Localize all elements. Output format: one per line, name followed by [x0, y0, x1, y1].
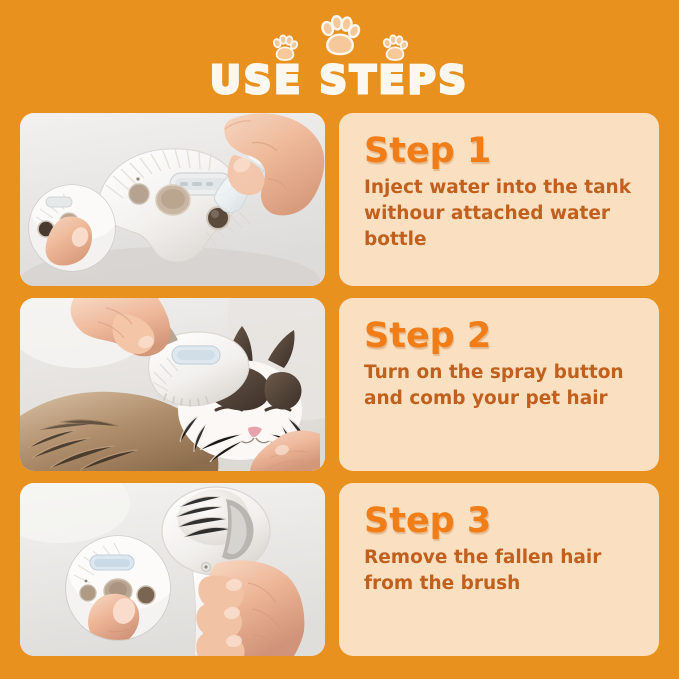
- step-1-photo: [20, 113, 325, 286]
- steps-list: Step 1 Inject water into the tank withou…: [20, 113, 659, 656]
- poster-header: USE STEPS: [0, 0, 679, 110]
- grooming-brush-with-bottle-image: [20, 113, 325, 286]
- brush-with-fur-image: [20, 483, 325, 656]
- step-description: Inject water into the tank withour attac…: [364, 175, 634, 253]
- list-item: Step 3 Remove the fallen hair from the b…: [20, 483, 659, 656]
- cat-grooming-image: [20, 298, 325, 471]
- use-steps-poster: USE STEPS: [0, 0, 679, 679]
- list-item: Step 1 Inject water into the tank withou…: [20, 113, 659, 286]
- step-3-photo: [20, 483, 325, 656]
- step-3-panel: Step 3 Remove the fallen hair from the b…: [339, 483, 659, 656]
- step-heading: Step 3: [364, 501, 639, 541]
- step-description: Remove the fallen hair from the brush: [364, 545, 634, 597]
- step-heading: Step 1: [364, 131, 639, 171]
- step-2-photo: [20, 298, 325, 471]
- step-1-panel: Step 1 Inject water into the tank withou…: [339, 113, 659, 286]
- step-description: Turn on the spray button and comb your p…: [364, 360, 634, 412]
- step-heading: Step 2: [364, 316, 639, 356]
- list-item: Step 2 Turn on the spray button and comb…: [20, 298, 659, 471]
- step-2-panel: Step 2 Turn on the spray button and comb…: [339, 298, 659, 471]
- page-title: USE STEPS: [0, 58, 679, 102]
- paw-print-icon: [318, 14, 362, 58]
